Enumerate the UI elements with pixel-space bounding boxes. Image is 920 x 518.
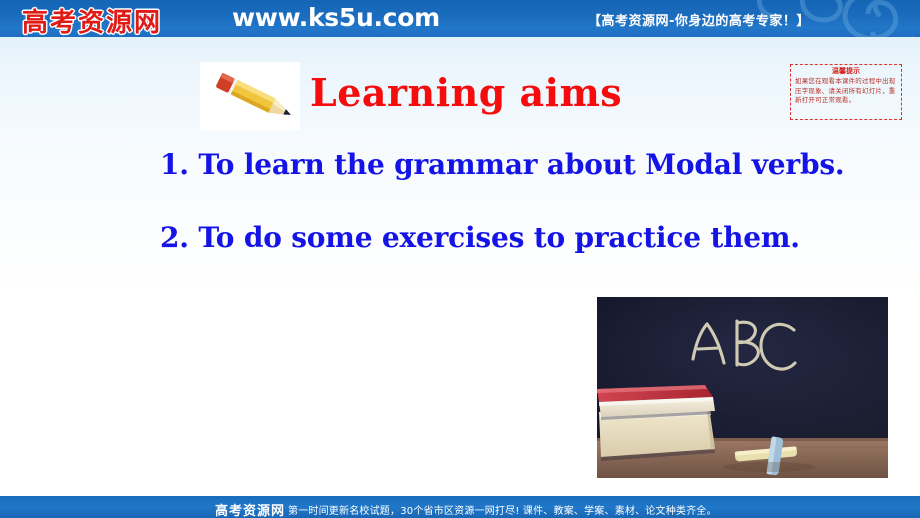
footer-logo-text: 高考资源网 [215, 500, 285, 518]
site-url-text: www.ks5u.com [232, 3, 440, 32]
pencil-image-box [200, 62, 300, 130]
footer-description-text: 第一时间更新名校试题，30个省市区资源一网打尽! 课件、教案、学案、素材、论文种… [288, 502, 717, 517]
notice-title: 温馨提示 [794, 67, 898, 76]
aim-item-2: 2. To do some exercises to practice them… [160, 221, 800, 254]
chalkboard-books-photo [597, 297, 888, 478]
presentation-slide: 高考资源网 www.ks5u.com 【高考资源网-你身边的高考专家！】 温馨提… [0, 0, 920, 518]
site-slogan-text: 【高考资源网-你身边的高考专家！】 [588, 10, 810, 29]
notice-box: 温馨提示 如果您在观看本课件的过程中出现压字现象、请关闭所有幻灯片，重新打开可正… [790, 64, 902, 120]
site-logo-text: 高考资源网 [22, 2, 162, 37]
page-title: Learning aims [310, 70, 622, 115]
header-bar: 高考资源网 www.ks5u.com 【高考资源网-你身边的高考专家！】 [0, 0, 920, 37]
footer-bar: 高考资源网 第一时间更新名校试题，30个省市区资源一网打尽! 课件、教案、学案、… [0, 496, 920, 518]
pencil-icon [200, 62, 300, 130]
aim-item-1: 1. To learn the grammar about Modal verb… [160, 148, 844, 181]
chalkboard-photo-graphic [597, 297, 888, 478]
notice-body: 如果您在观看本课件的过程中出现压字现象、请关闭所有幻灯片，重新打开可正常观看。 [794, 77, 898, 106]
